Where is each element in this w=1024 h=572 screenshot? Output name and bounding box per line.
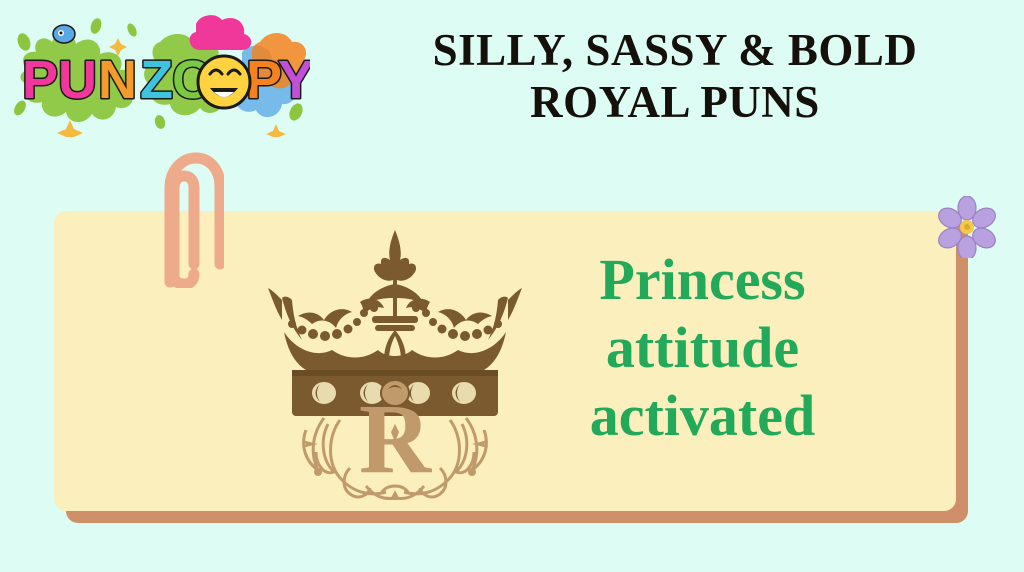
- page-title-line-1: SILLY, SASSY & BOLD: [330, 24, 1020, 76]
- svg-text:Z: Z: [140, 50, 173, 110]
- crown-fleur-top: [366, 230, 424, 331]
- quote-line-3: activated: [530, 382, 875, 450]
- crown-scallop-band: [284, 332, 506, 370]
- poster-canvas: P U N Z C P Y SILLY, SASSY &: [0, 0, 1024, 572]
- quote-line-2: attitude: [530, 314, 875, 382]
- laughing-emoji-icon: [198, 56, 250, 108]
- svg-text:P: P: [22, 50, 58, 110]
- header: P U N Z C P Y SILLY, SASSY &: [0, 0, 1024, 150]
- royal-crown-monogram-icon: R: [262, 224, 528, 500]
- punzcopy-logo[interactable]: P U N Z C P Y: [10, 12, 310, 137]
- monogram-letter: R: [359, 383, 433, 494]
- quote-line-1: Princess: [530, 246, 875, 314]
- quote-text: Princess attitude activated: [530, 246, 875, 450]
- page-title: SILLY, SASSY & BOLD ROYAL PUNS: [330, 24, 1020, 128]
- svg-text:N: N: [98, 50, 137, 110]
- svg-text:Y: Y: [278, 50, 310, 110]
- logo-wordmark: P U N Z C P Y: [22, 50, 310, 110]
- svg-text:U: U: [58, 50, 97, 110]
- page-title-line-2: ROYAL PUNS: [330, 76, 1020, 128]
- logo-blue-blob: [53, 25, 75, 43]
- logo-pink-cloud: [190, 15, 252, 50]
- paperclip-icon: [148, 152, 224, 288]
- flower-icon: [936, 196, 998, 258]
